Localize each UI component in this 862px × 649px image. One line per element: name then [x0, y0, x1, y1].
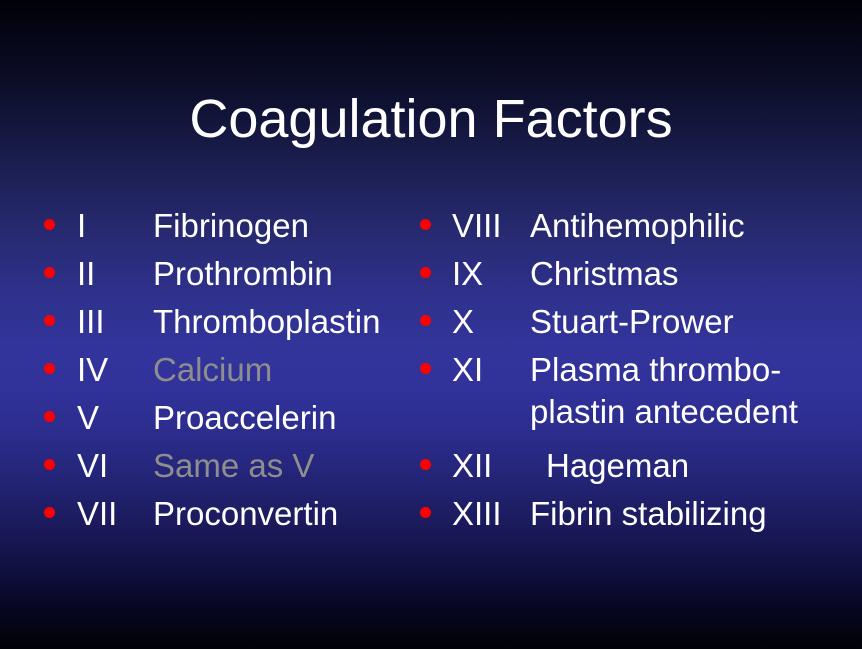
list-item: IV Calcium: [44, 349, 434, 397]
factor-numeral: V: [77, 397, 153, 439]
bullet-icon: [420, 507, 431, 518]
list-item: V Proaccelerin: [44, 397, 434, 445]
presentation-slide: Coagulation Factors I Fibrinogen II Prot…: [0, 0, 862, 649]
factor-name: Hageman: [530, 445, 850, 487]
factor-name: Plasma thrombo- plastin antecedent: [530, 349, 850, 433]
factor-numeral: VIII: [452, 205, 530, 247]
bullet-icon: [420, 219, 431, 230]
bullet-icon: [44, 411, 55, 422]
factor-numeral: VII: [77, 493, 153, 535]
bullet-icon: [420, 267, 431, 278]
bullet-icon: [420, 363, 431, 374]
factor-name: Fibrin stabilizing: [530, 493, 850, 535]
bullet-icon: [420, 459, 431, 470]
factor-list-columns: I Fibrinogen II Prothrombin III Thrombop…: [0, 205, 862, 555]
bullet-icon: [44, 507, 55, 518]
bullet-icon: [44, 459, 55, 470]
factor-name: Proaccelerin: [153, 397, 434, 439]
factor-column-right: VIII Antihemophilic IX Christmas X Stuar…: [420, 205, 850, 541]
list-item: X Stuart-Prower: [420, 301, 850, 349]
factor-name-line-2: plastin antecedent: [530, 391, 850, 433]
bullet-icon: [44, 219, 55, 230]
bullet-icon: [44, 267, 55, 278]
list-item: VIII Antihemophilic: [420, 205, 850, 253]
factor-numeral: IV: [77, 349, 153, 391]
factor-name: Antihemophilic: [530, 205, 850, 247]
list-item: XI Plasma thrombo- plastin antecedent: [420, 349, 850, 445]
factor-numeral: XII: [452, 445, 530, 487]
factor-numeral: X: [452, 301, 530, 343]
list-item: XIII Fibrin stabilizing: [420, 493, 850, 541]
factor-name: Calcium: [153, 349, 434, 391]
factor-numeral: I: [77, 205, 153, 247]
factor-numeral: XIII: [452, 493, 530, 535]
factor-name-line-1: Plasma thrombo-: [530, 349, 850, 391]
list-item: III Thromboplastin: [44, 301, 434, 349]
factor-name: Prothrombin: [153, 253, 434, 295]
factor-name: Proconvertin: [153, 493, 434, 535]
factor-numeral: VI: [77, 445, 153, 487]
factor-numeral: II: [77, 253, 153, 295]
factor-name: Same as V: [153, 445, 434, 487]
factor-name: Thromboplastin: [153, 301, 434, 343]
list-item: VI Same as V: [44, 445, 434, 493]
list-item: VII Proconvertin: [44, 493, 434, 541]
factor-name: Fibrinogen: [153, 205, 434, 247]
factor-numeral: XI: [452, 349, 530, 391]
list-item: II Prothrombin: [44, 253, 434, 301]
bullet-icon: [44, 363, 55, 374]
bullet-icon: [420, 315, 431, 326]
factor-numeral: III: [77, 301, 153, 343]
list-item: IX Christmas: [420, 253, 850, 301]
page-title: Coagulation Factors: [0, 88, 862, 150]
list-item: I Fibrinogen: [44, 205, 434, 253]
bullet-icon: [44, 315, 55, 326]
factor-numeral: IX: [452, 253, 530, 295]
factor-column-left: I Fibrinogen II Prothrombin III Thrombop…: [44, 205, 434, 541]
factor-name: Stuart-Prower: [530, 301, 850, 343]
factor-name: Christmas: [530, 253, 850, 295]
list-item: XII Hageman: [420, 445, 850, 493]
